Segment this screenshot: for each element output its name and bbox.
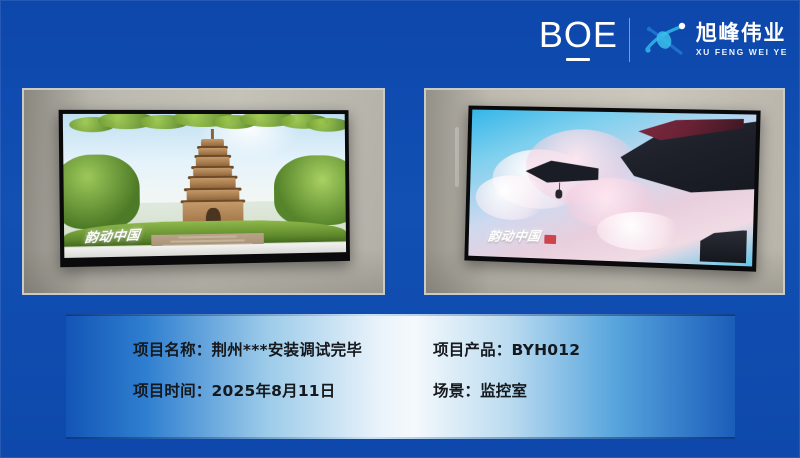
screen-watermark-right: 韵动中国 [488, 225, 557, 246]
logo-group: BOE 旭峰伟业 XU FENG WEI YE [539, 17, 788, 62]
xufeng-logo-text: 旭峰伟业 XU FENG WEI YE [696, 23, 788, 57]
info-grid: 项目名称：荆州***安装调试完毕 项目产品：BYH012 项目时间：2025年8… [133, 338, 580, 401]
tree-right [274, 156, 346, 226]
display-screen-right: 韵动中国 [469, 110, 757, 267]
pagoda-scene: 韵动中国 [63, 114, 346, 258]
swoosh-icon [641, 19, 689, 61]
logo-divider [629, 18, 630, 62]
boe-logo-text: BOE [539, 17, 618, 53]
watermark-seal-icon [545, 235, 557, 244]
project-time-text: 项目时间：2025年8月11日 [133, 379, 433, 401]
project-name-text: 项目名称：荆州***安装调试完毕 [133, 338, 433, 360]
scene-text: 场景：监控室 [433, 379, 580, 401]
header: BOE 旭峰伟业 XU FENG WEI YE [0, 0, 800, 80]
xufeng-logo: 旭峰伟业 XU FENG WEI YE [641, 19, 788, 61]
xufeng-logo-english: XU FENG WEI YE [696, 48, 788, 57]
boe-logo-underline [566, 58, 590, 62]
watermark-text: 韵动中国 [487, 226, 542, 245]
slide-canvas: BOE 旭峰伟业 XU FENG WEI YE [0, 0, 800, 458]
info-panel: 项目名称：荆州***安装调试完毕 项目产品：BYH012 项目时间：2025年8… [66, 314, 735, 439]
installation-photo-left: 韵动中国 [22, 88, 385, 295]
corner-building [700, 229, 748, 264]
display-panel-left: 韵动中国 [58, 110, 349, 268]
project-product-text: 项目产品：BYH012 [433, 338, 580, 360]
info-panel-bottom-edge [66, 437, 735, 439]
photo-row: 韵动中国 [0, 88, 800, 296]
temple-eave-scene: 韵动中国 [469, 110, 757, 267]
boe-logo: BOE [539, 17, 618, 62]
installation-photo-right: 韵动中国 [424, 88, 785, 295]
tree-left [63, 154, 140, 230]
xufeng-logo-chinese: 旭峰伟业 [696, 23, 788, 44]
display-screen-left: 韵动中国 [63, 114, 346, 258]
info-panel-top-edge [66, 314, 735, 316]
wall-seam [455, 127, 459, 188]
display-panel-right: 韵动中国 [465, 106, 761, 273]
